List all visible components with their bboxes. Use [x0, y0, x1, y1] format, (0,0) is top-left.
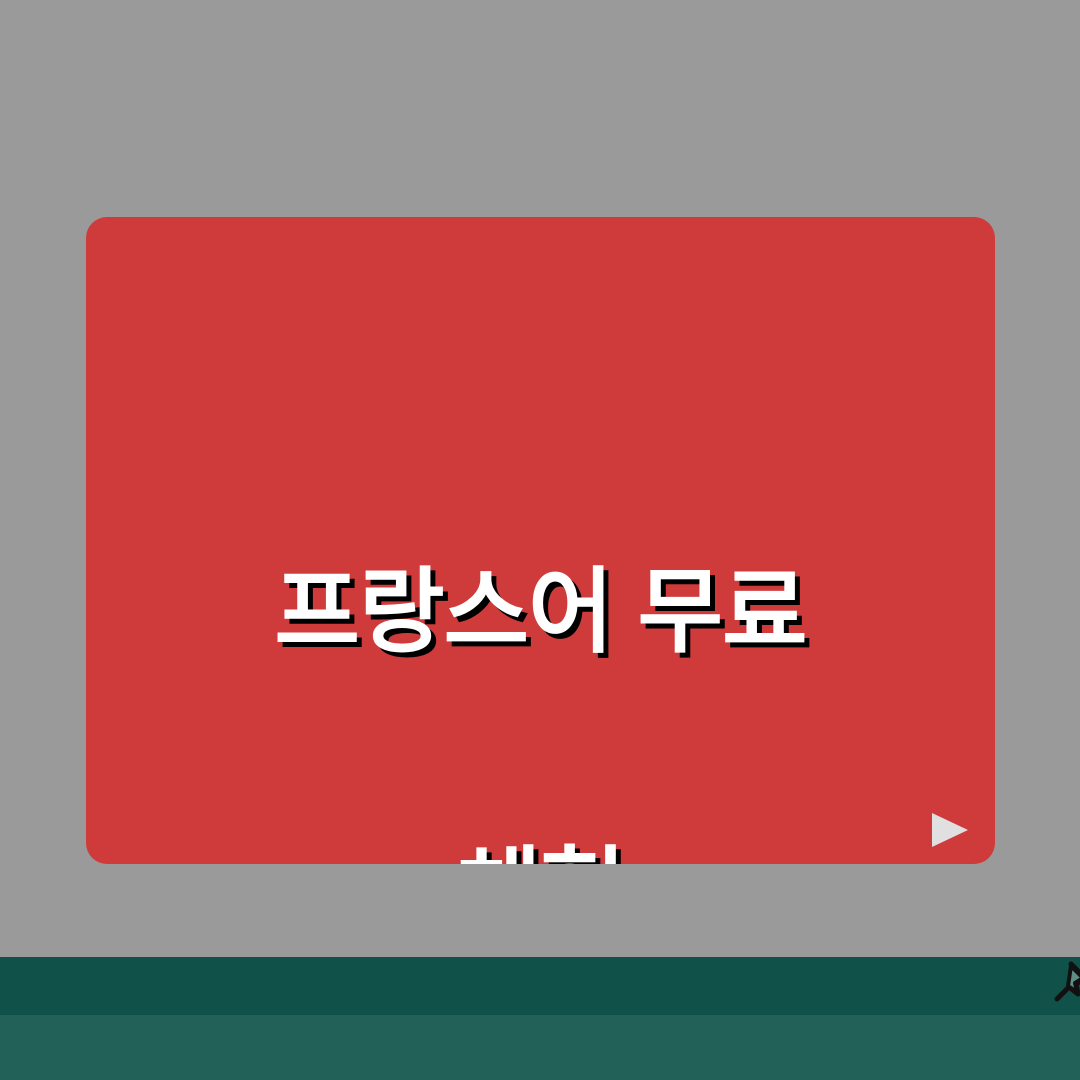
promo-card[interactable]: 프랑스어 무료 체험 신청 [86, 217, 995, 864]
footer-band-upper [0, 957, 1080, 1015]
play-triangle-icon[interactable] [932, 813, 968, 847]
headline: 프랑스어 무료 체험 신청 [86, 380, 995, 864]
pushpin-icon [1036, 960, 1080, 1008]
headline-line-1: 프랑스어 무료 [86, 566, 995, 659]
footer-band-lower [0, 1015, 1080, 1080]
headline-line-2: 체험 [86, 845, 995, 864]
canvas: 프랑스어 무료 체험 신청 [0, 0, 1080, 1080]
